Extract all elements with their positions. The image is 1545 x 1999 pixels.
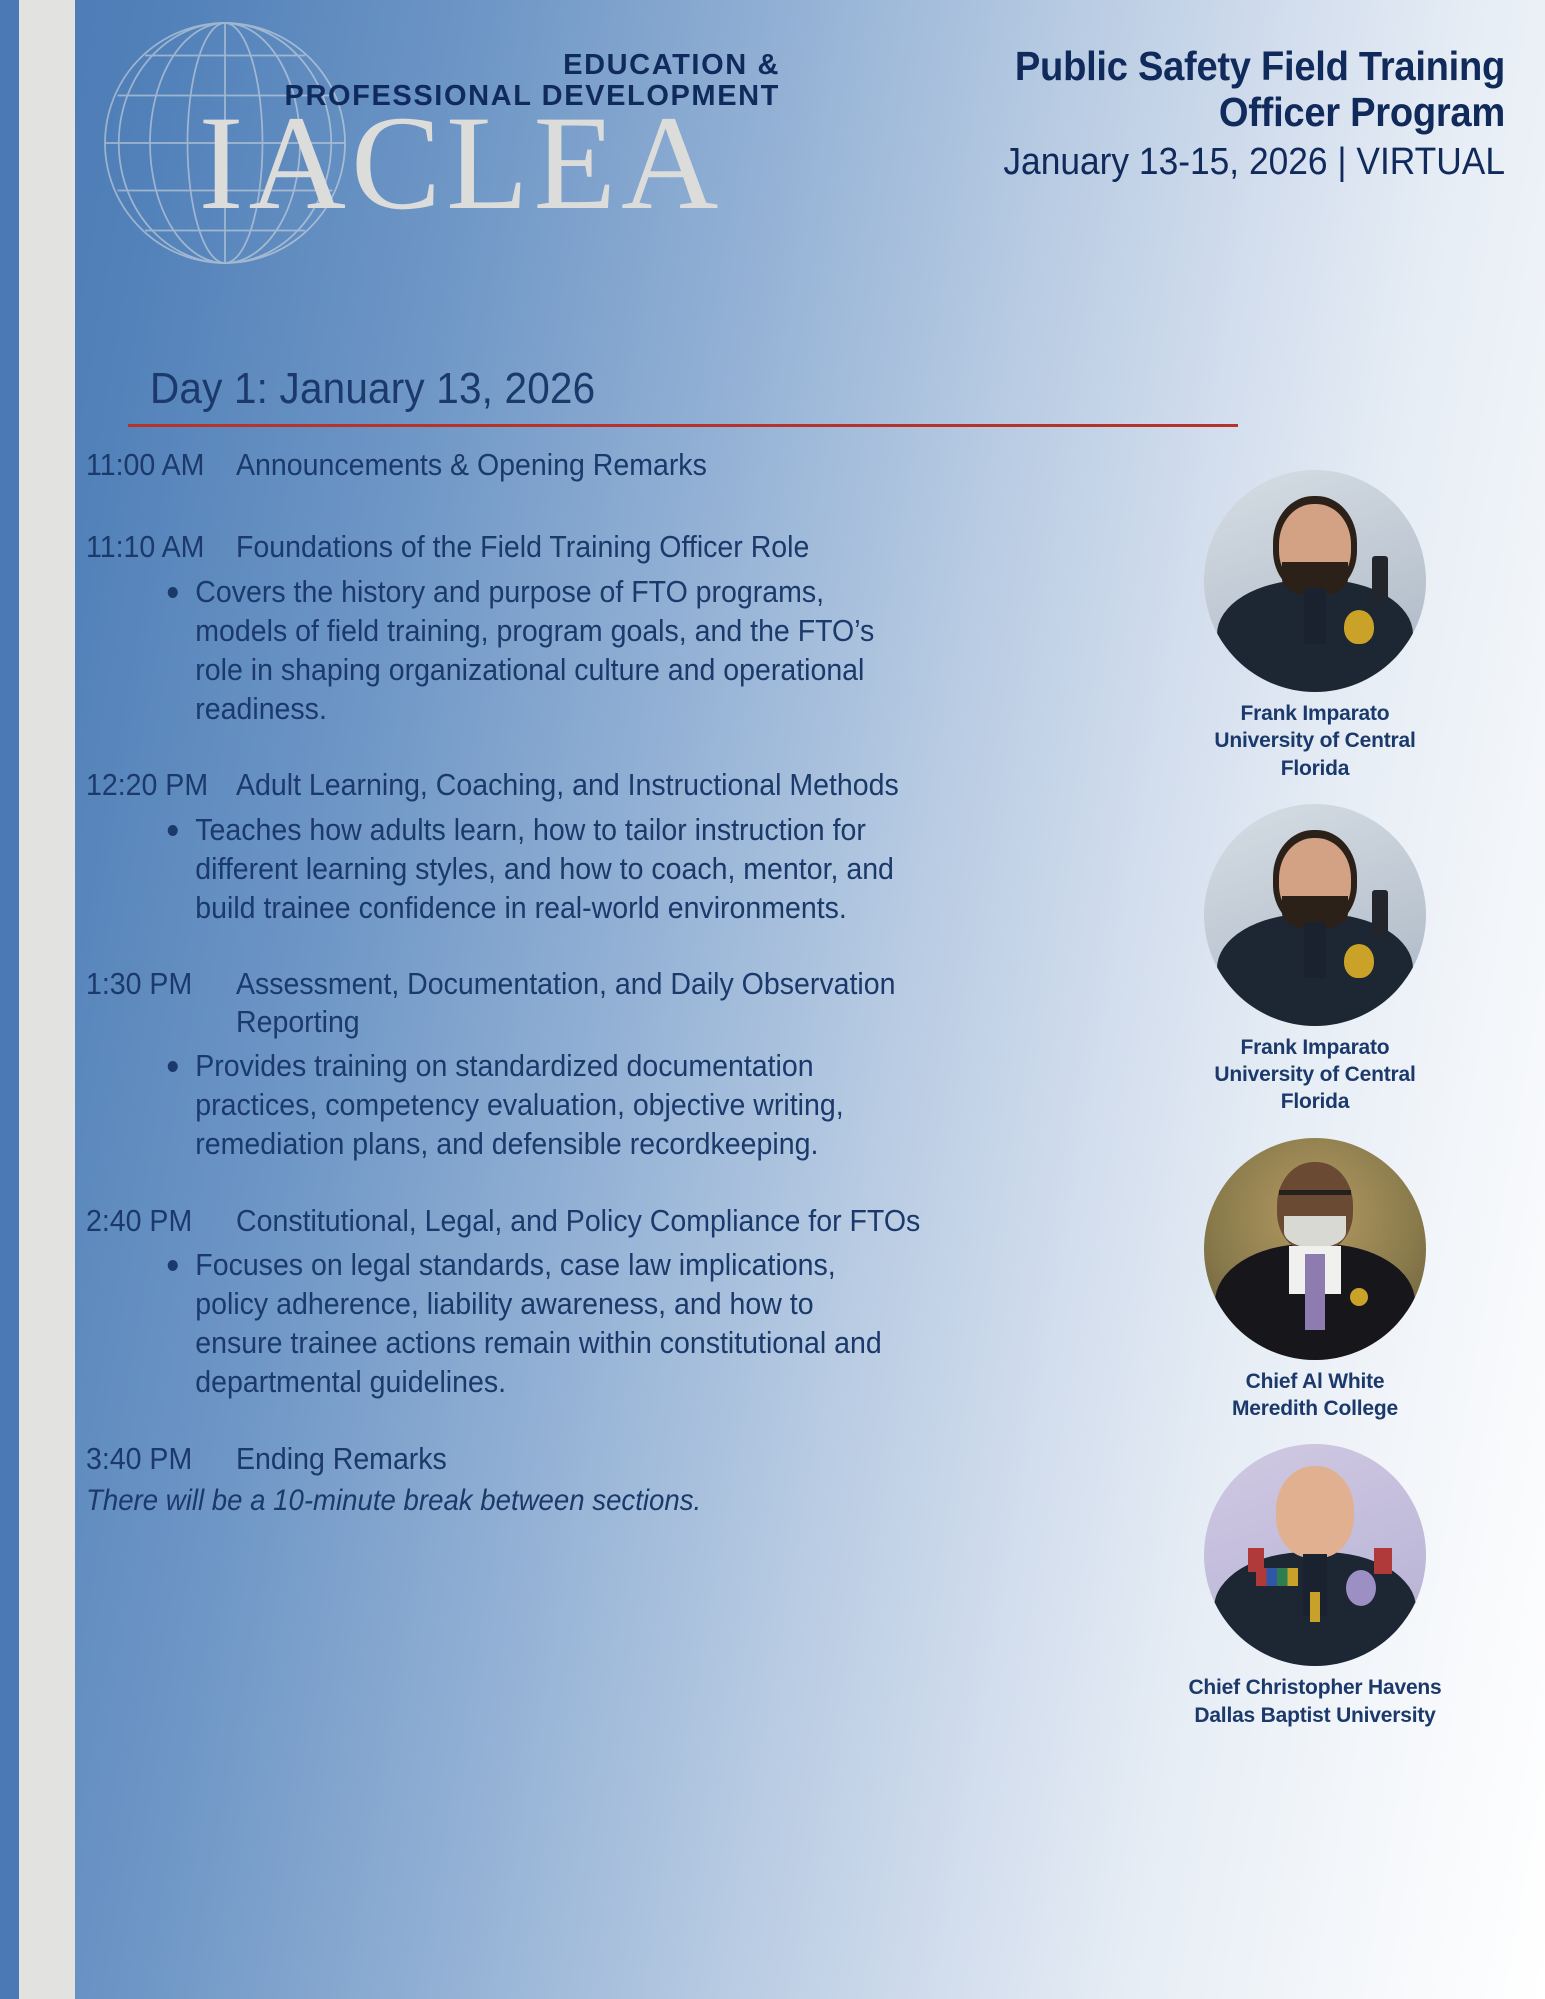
agenda-time: 11:00 AM [86,446,224,484]
agenda-item: 1:30 PM Assessment, Documentation, and D… [86,965,1126,1041]
speaker-name: Frank Imparato [1185,1034,1445,1061]
avatar [1204,1444,1426,1666]
flyer-page: EDUCATION & PROFESSIONAL DEVELOPMENT IAC… [0,0,1545,1999]
agenda-item: 11:10 AM Foundations of the Field Traini… [86,528,1126,566]
agenda-bullets: Focuses on legal standards, case law imp… [86,1245,1126,1401]
agenda-bullets: Teaches how adults learn, how to tailor … [86,810,1126,927]
speaker-list: Frank Imparato University of Central Flo… [1185,470,1445,1751]
agenda-list: 11:00 AM Announcements & Opening Remarks… [86,446,1126,1519]
agenda-time: 3:40 PM [86,1440,224,1478]
event-title-line2: Officer Program [910,90,1505,136]
left-edge-grey-stripe [19,0,75,1999]
page-header: EDUCATION & PROFESSIONAL DEVELOPMENT IAC… [75,0,1545,290]
event-subtitle: January 13-15, 2026 | VIRTUAL [910,142,1505,184]
speaker-name: Chief Christopher Havens [1185,1674,1445,1701]
agenda-bullet: Focuses on legal standards, case law imp… [164,1245,894,1401]
agenda-bullet: Covers the history and purpose of FTO pr… [164,572,894,728]
left-edge-blue-bar [0,0,19,1999]
agenda-item: 3:40 PM Ending Remarks [86,1440,1126,1478]
event-title: Public Safety Field Training Officer Pro… [910,44,1505,136]
agenda-item: 11:00 AM Announcements & Opening Remarks [86,446,1126,484]
day-heading: Day 1: January 13, 2026 [150,364,595,414]
agenda-item: 12:20 PM Adult Learning, Coaching, and I… [86,766,1126,804]
speaker-card: Frank Imparato University of Central Flo… [1185,804,1445,1116]
agenda-time: 12:20 PM [86,766,224,804]
day-heading-rule [128,424,1238,427]
avatar [1204,804,1426,1026]
iaclea-logo: EDUCATION & PROFESSIONAL DEVELOPMENT IAC… [100,10,780,245]
agenda-item: 2:40 PM Constitutional, Legal, and Polic… [86,1202,1126,1240]
agenda-bullets: Covers the history and purpose of FTO pr… [86,572,1126,728]
speaker-name: Chief Al White [1185,1368,1445,1395]
speaker-affiliation: Meredith College [1185,1395,1445,1422]
speaker-affiliation: University of Central Florida [1185,727,1445,782]
speaker-card: Chief Al White Meredith College [1185,1138,1445,1423]
brand-wordmark: IACLEA [100,96,780,231]
brand-tagline-line1: EDUCATION & [100,50,780,81]
speaker-affiliation: University of Central Florida [1185,1061,1445,1116]
agenda-title: Announcements & Opening Remarks [236,446,935,484]
speaker-affiliation: Dallas Baptist University [1185,1702,1445,1729]
agenda-time: 11:10 AM [86,528,224,566]
avatar [1204,1138,1426,1360]
agenda-title: Foundations of the Field Training Office… [236,528,935,566]
speaker-card: Frank Imparato University of Central Flo… [1185,470,1445,782]
agenda-bullet: Teaches how adults learn, how to tailor … [164,810,894,927]
speaker-name: Frank Imparato [1185,700,1445,727]
agenda-title: Ending Remarks [236,1440,935,1478]
agenda-time: 2:40 PM [86,1202,224,1240]
speaker-card: Chief Christopher Havens Dallas Baptist … [1185,1444,1445,1729]
agenda-bullets: Provides training on standardized docume… [86,1046,1126,1163]
avatar [1204,470,1426,692]
agenda-footnote: There will be a 10-minute break between … [86,1483,1043,1519]
agenda-title: Assessment, Documentation, and Daily Obs… [236,965,935,1041]
agenda-title: Constitutional, Legal, and Policy Compli… [236,1202,935,1240]
agenda-bullet: Provides training on standardized docume… [164,1046,894,1163]
agenda-time: 1:30 PM [86,965,224,1003]
event-title-block: Public Safety Field Training Officer Pro… [865,44,1505,184]
agenda-title: Adult Learning, Coaching, and Instructio… [236,766,935,804]
event-title-line1: Public Safety Field Training [910,44,1505,90]
